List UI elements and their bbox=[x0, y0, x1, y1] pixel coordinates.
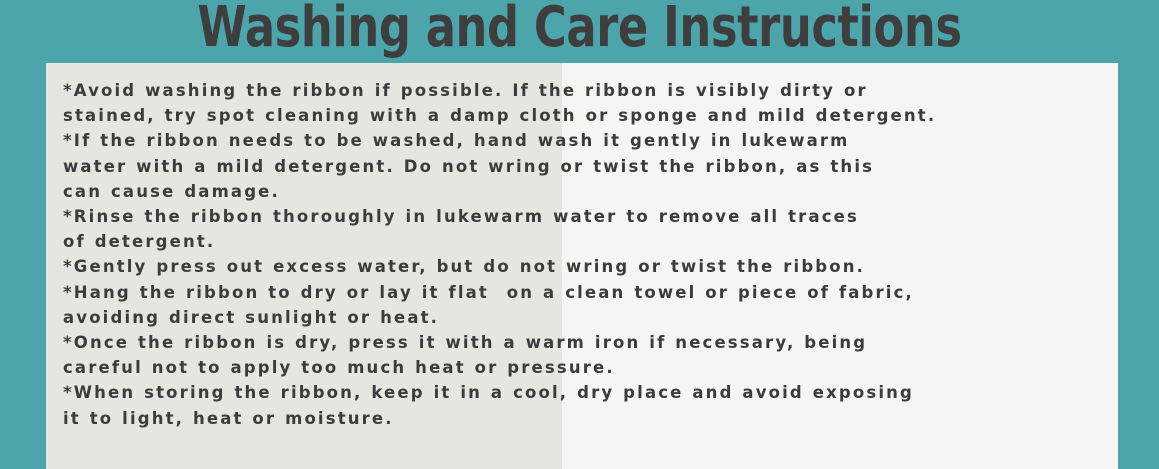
page-title: Washing and Care Instructions bbox=[116, 0, 1043, 60]
list-item: *Avoid washing the ribbon if possible. I… bbox=[63, 78, 1118, 128]
list-item: *When storing the ribbon, keep it in a c… bbox=[63, 380, 1118, 430]
list-item: *Hang the ribbon to dry or lay it flat o… bbox=[63, 280, 1118, 330]
list-item: *Gently press out excess water, but do n… bbox=[63, 254, 1118, 279]
list-item: *Rinse the ribbon thoroughly in lukewarm… bbox=[63, 204, 1118, 254]
list-item: *If the ribbon needs to be washed, hand … bbox=[63, 128, 1118, 204]
instructions-list: *Avoid washing the ribbon if possible. I… bbox=[63, 78, 1118, 431]
list-item: *Once the ribbon is dry, press it with a… bbox=[63, 330, 1118, 380]
instructions-card: *Avoid washing the ribbon if possible. I… bbox=[46, 63, 1118, 469]
care-instructions-poster: Washing and Care Instructions *Avoid was… bbox=[0, 0, 1159, 469]
